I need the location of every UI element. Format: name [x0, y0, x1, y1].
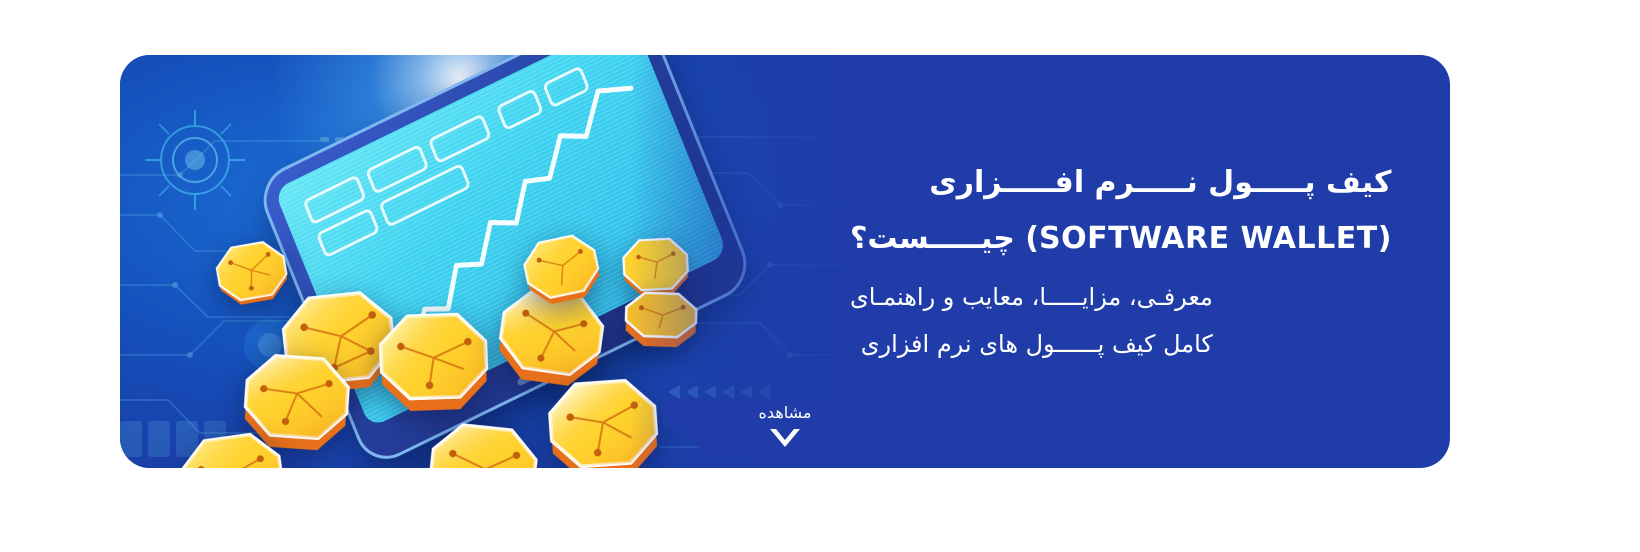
- subtitle-line-2: کامل کیف پــــــول های نرم افزاری: [861, 330, 1213, 358]
- banner-stage: کیف پـــــول نـــــرم افـــــزاری (SOFTW…: [0, 0, 1640, 552]
- crypto-coin-icon: [368, 311, 500, 427]
- banner-headline: کیف پـــــول نـــــرم افـــــزاری (SOFTW…: [850, 155, 1391, 266]
- promo-banner-card[interactable]: کیف پـــــول نـــــرم افـــــزاری (SOFTW…: [120, 55, 1450, 468]
- view-more-button[interactable]: مشاهده: [663, 399, 907, 468]
- subtitle-line-1: معرفـی، مزایـــــا، معایب و راهنمـای: [850, 283, 1213, 311]
- headline-line-1: کیف پـــــول نـــــرم افـــــزاری: [929, 165, 1391, 200]
- banner-text-content: کیف پـــــول نـــــرم افـــــزاری (SOFTW…: [850, 55, 1450, 468]
- banner-subtitle: معرفـی، مزایـــــا، معایب و راهنمـای کام…: [850, 274, 1213, 368]
- chevron-down-icon: [768, 427, 802, 449]
- view-more-label: مشاهده: [663, 405, 907, 421]
- headline-line-2: (SOFTWARE WALLET) چیـــــست؟: [850, 221, 1391, 256]
